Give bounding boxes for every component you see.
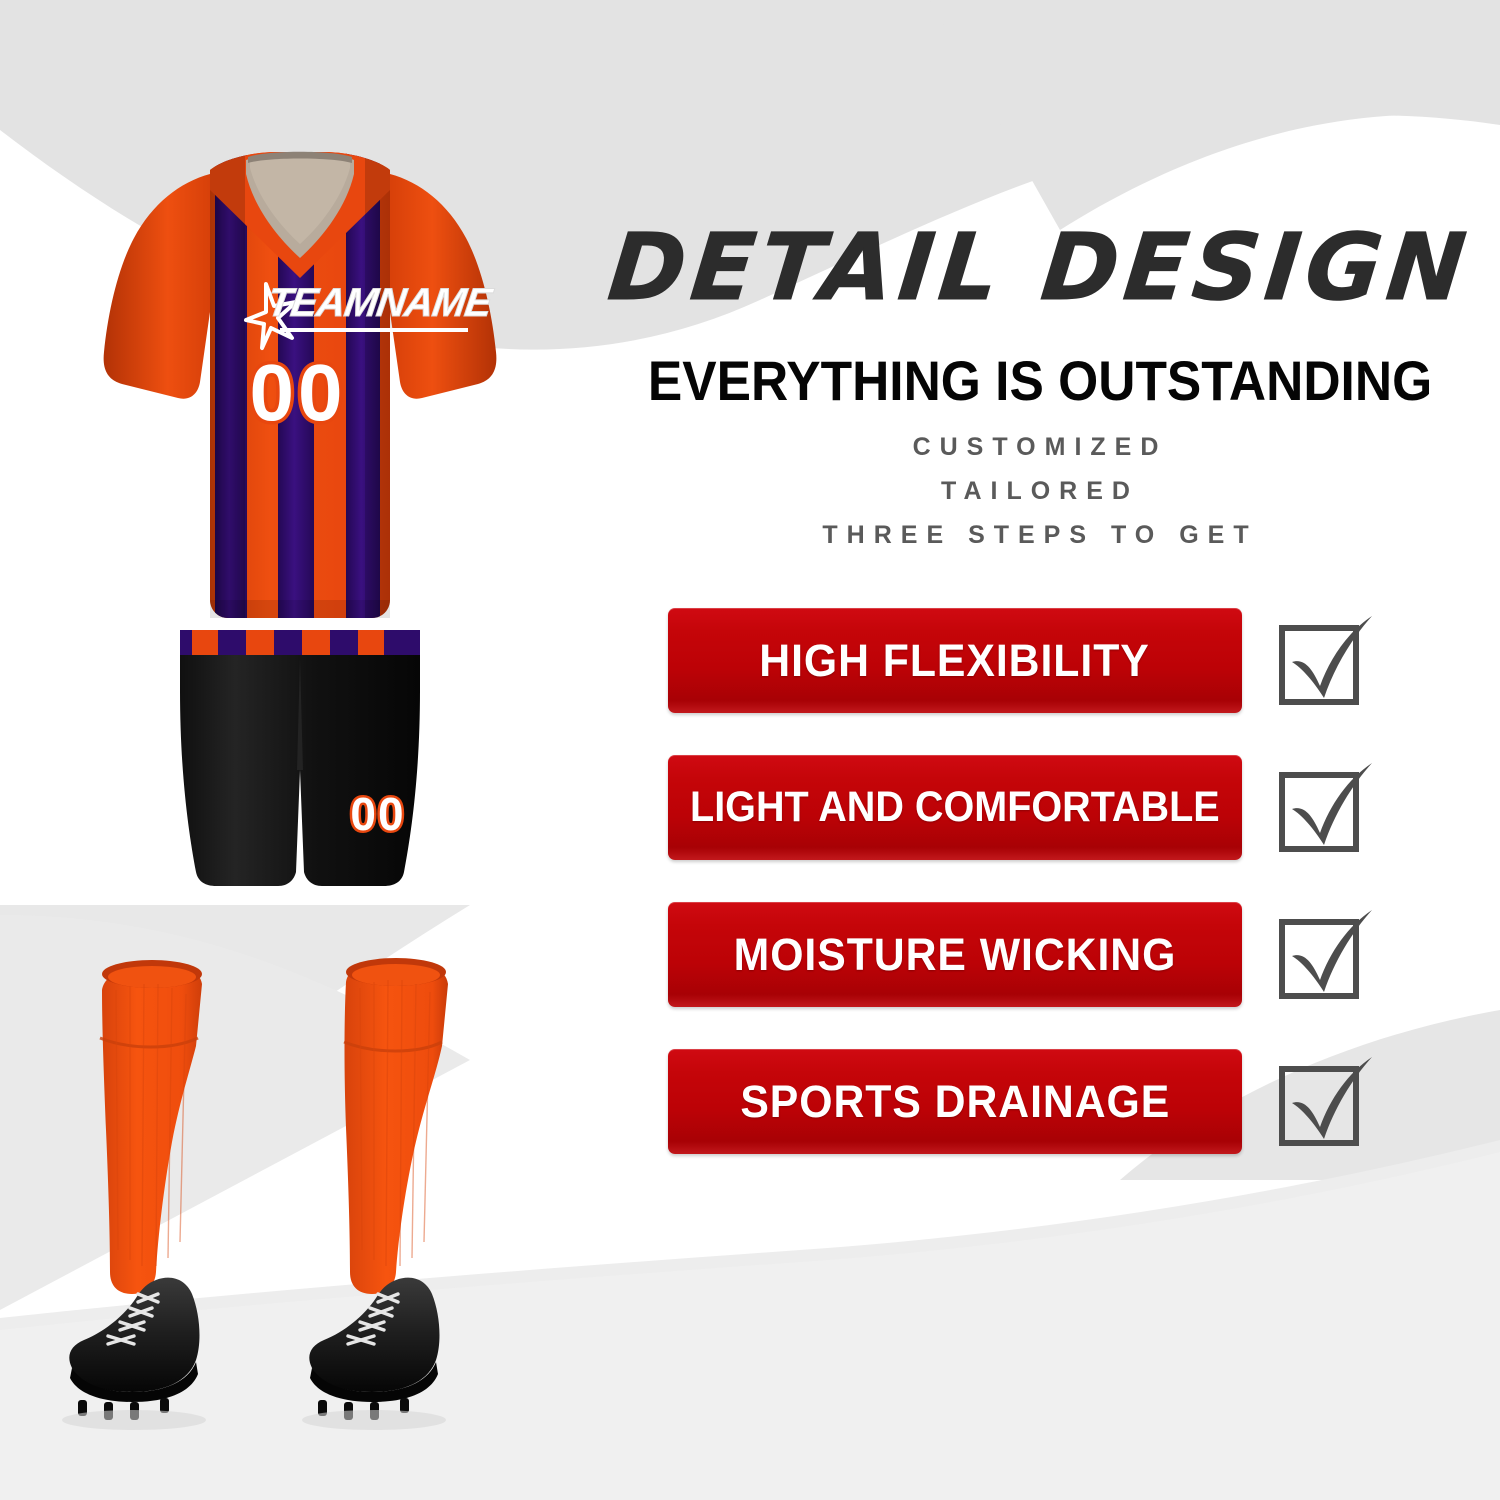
- feature-bar-moisture-wicking[interactable]: MOISTURE WICKING: [668, 902, 1242, 1007]
- shorts-number: 00: [350, 788, 405, 840]
- checkbox-checked-icon[interactable]: [1268, 606, 1376, 714]
- jersey-number: 00: [250, 348, 347, 437]
- feature-label: SPORTS DRAINAGE: [740, 1076, 1170, 1128]
- checkbox-checked-icon[interactable]: [1268, 900, 1376, 1008]
- feature-label: HIGH FLEXIBILITY: [760, 635, 1150, 687]
- feature-row: SPORTS DRAINAGE: [668, 1049, 1488, 1154]
- product-detail-banner: TEAMNAME 00 00: [0, 0, 1500, 1500]
- tagline-line-2: TAILORED: [600, 469, 1480, 513]
- marketing-content: DETAIL DESIGN EVERYTHING IS OUTSTANDING …: [600, 0, 1500, 1500]
- feature-bar-light-and-comfortable[interactable]: LIGHT AND COMFORTABLE: [668, 755, 1242, 860]
- checkbox-checked-icon[interactable]: [1268, 753, 1376, 861]
- feature-bar-sports-drainage[interactable]: SPORTS DRAINAGE: [668, 1049, 1242, 1154]
- tagline-block: CUSTOMIZED TAILORED THREE STEPS TO GET: [600, 425, 1480, 557]
- left-cleat: [69, 1278, 199, 1420]
- feature-label: MOISTURE WICKING: [734, 929, 1177, 981]
- jersey-and-shorts-image: TEAMNAME 00 00: [60, 130, 540, 930]
- feature-row: HIGH FLEXIBILITY: [668, 608, 1488, 713]
- jersey-team-name: TEAMNAME: [265, 280, 497, 325]
- feature-list: HIGH FLEXIBILITY LIGHT AND COMFORTABLE: [668, 608, 1488, 1196]
- product-showcase: TEAMNAME 00 00: [0, 0, 600, 1500]
- feature-label: LIGHT AND COMFORTABLE: [690, 783, 1220, 832]
- tagline-line-1: CUSTOMIZED: [600, 425, 1480, 469]
- feature-row: MOISTURE WICKING: [668, 902, 1488, 1007]
- page-subtitle: EVERYTHING IS OUTSTANDING: [635, 352, 1445, 411]
- page-title: DETAIL DESIGN: [595, 222, 1485, 314]
- checkbox-checked-icon[interactable]: [1268, 1047, 1376, 1155]
- feature-bar-high-flexibility[interactable]: HIGH FLEXIBILITY: [668, 608, 1242, 713]
- right-cleat: [309, 1278, 439, 1420]
- tagline-line-3: THREE STEPS TO GET: [600, 513, 1480, 557]
- feature-row: LIGHT AND COMFORTABLE: [668, 755, 1488, 860]
- socks-and-cleats-image: [60, 950, 540, 1450]
